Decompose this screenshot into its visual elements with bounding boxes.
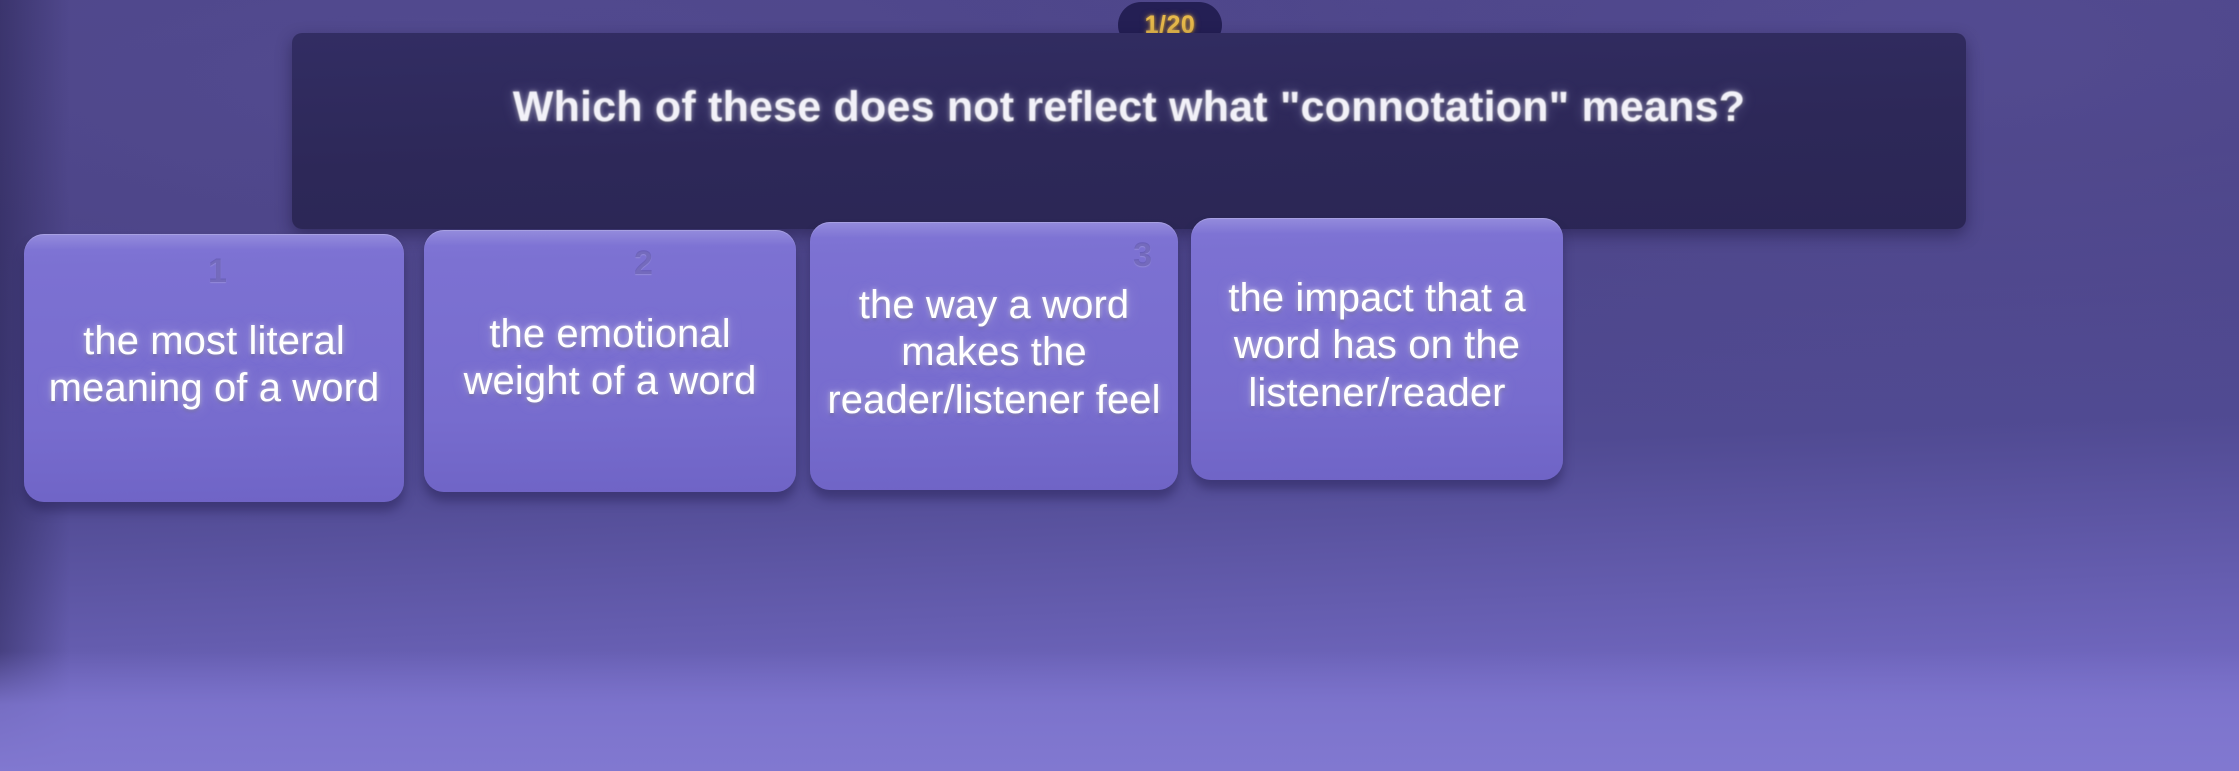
question-text: Which of these does not reflect what "co… [513,81,1745,135]
answer-option-3[interactable]: 3 the way a word makes the reader/listen… [810,222,1178,490]
answer-option-1[interactable]: 1 the most literal meaning of a word [24,234,404,502]
answer-index-1: 1 [208,252,227,291]
answer-label-2: the emotional weight of a word [440,311,780,405]
question-panel: Which of these does not reflect what "co… [292,33,1966,229]
answer-option-2[interactable]: 2 the emotional weight of a word [424,230,796,492]
answer-option-4[interactable]: 4 the impact that a word has on the list… [1191,218,1563,480]
answer-index-2: 2 [634,244,653,283]
answer-label-1: the most literal meaning of a word [40,318,388,412]
bottom-glare [0,651,2239,771]
answer-label-3: the way a word makes the reader/listener… [826,282,1162,424]
answer-index-3: 3 [1133,236,1152,275]
answer-label-4: the impact that a word has on the listen… [1207,275,1547,417]
